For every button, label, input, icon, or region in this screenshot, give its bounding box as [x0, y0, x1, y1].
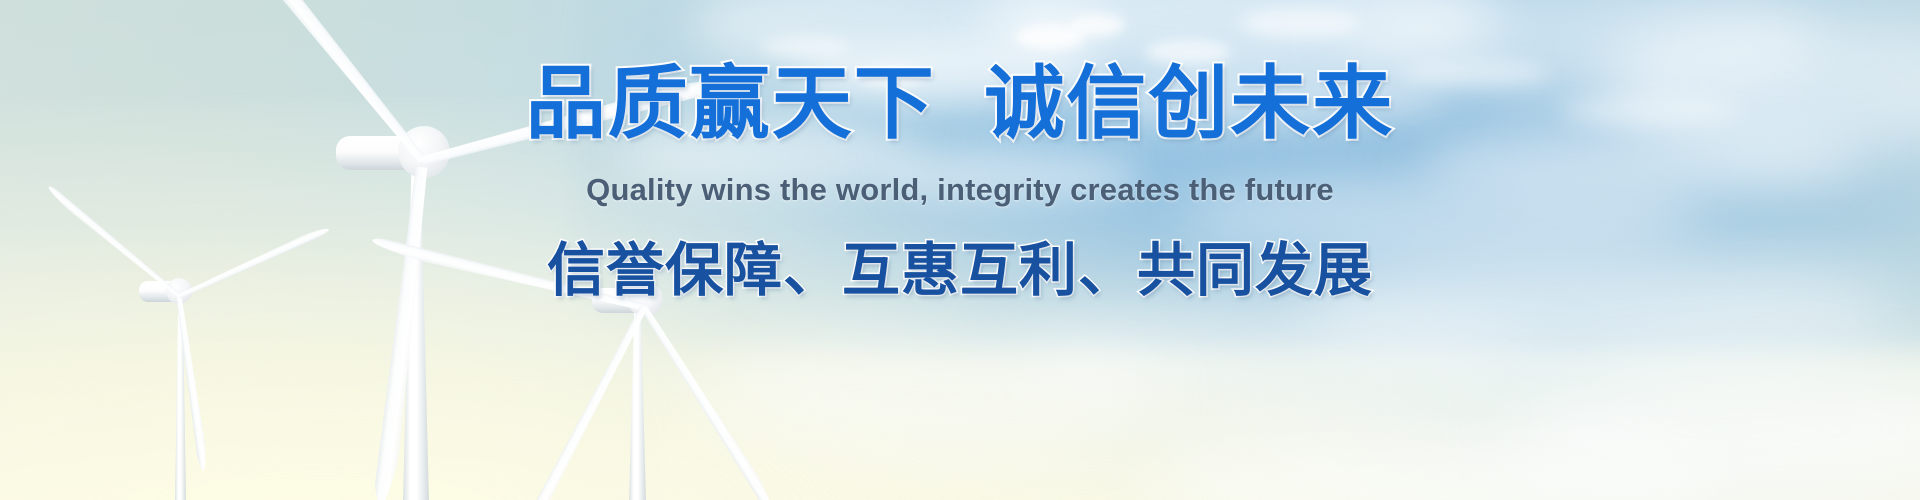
hero-banner: 品质赢天下 诚信创未来 Quality wins the world, inte…	[0, 0, 1920, 500]
banner-subtitle-chinese: 信誉保障、互惠互利、共同发展	[0, 242, 1920, 300]
banner-text-block: 品质赢天下 诚信创未来 Quality wins the world, inte…	[0, 0, 1920, 500]
banner-headline: 品质赢天下 诚信创未来	[0, 64, 1920, 144]
banner-subtitle-english: Quality wins the world, integrity create…	[0, 172, 1920, 208]
